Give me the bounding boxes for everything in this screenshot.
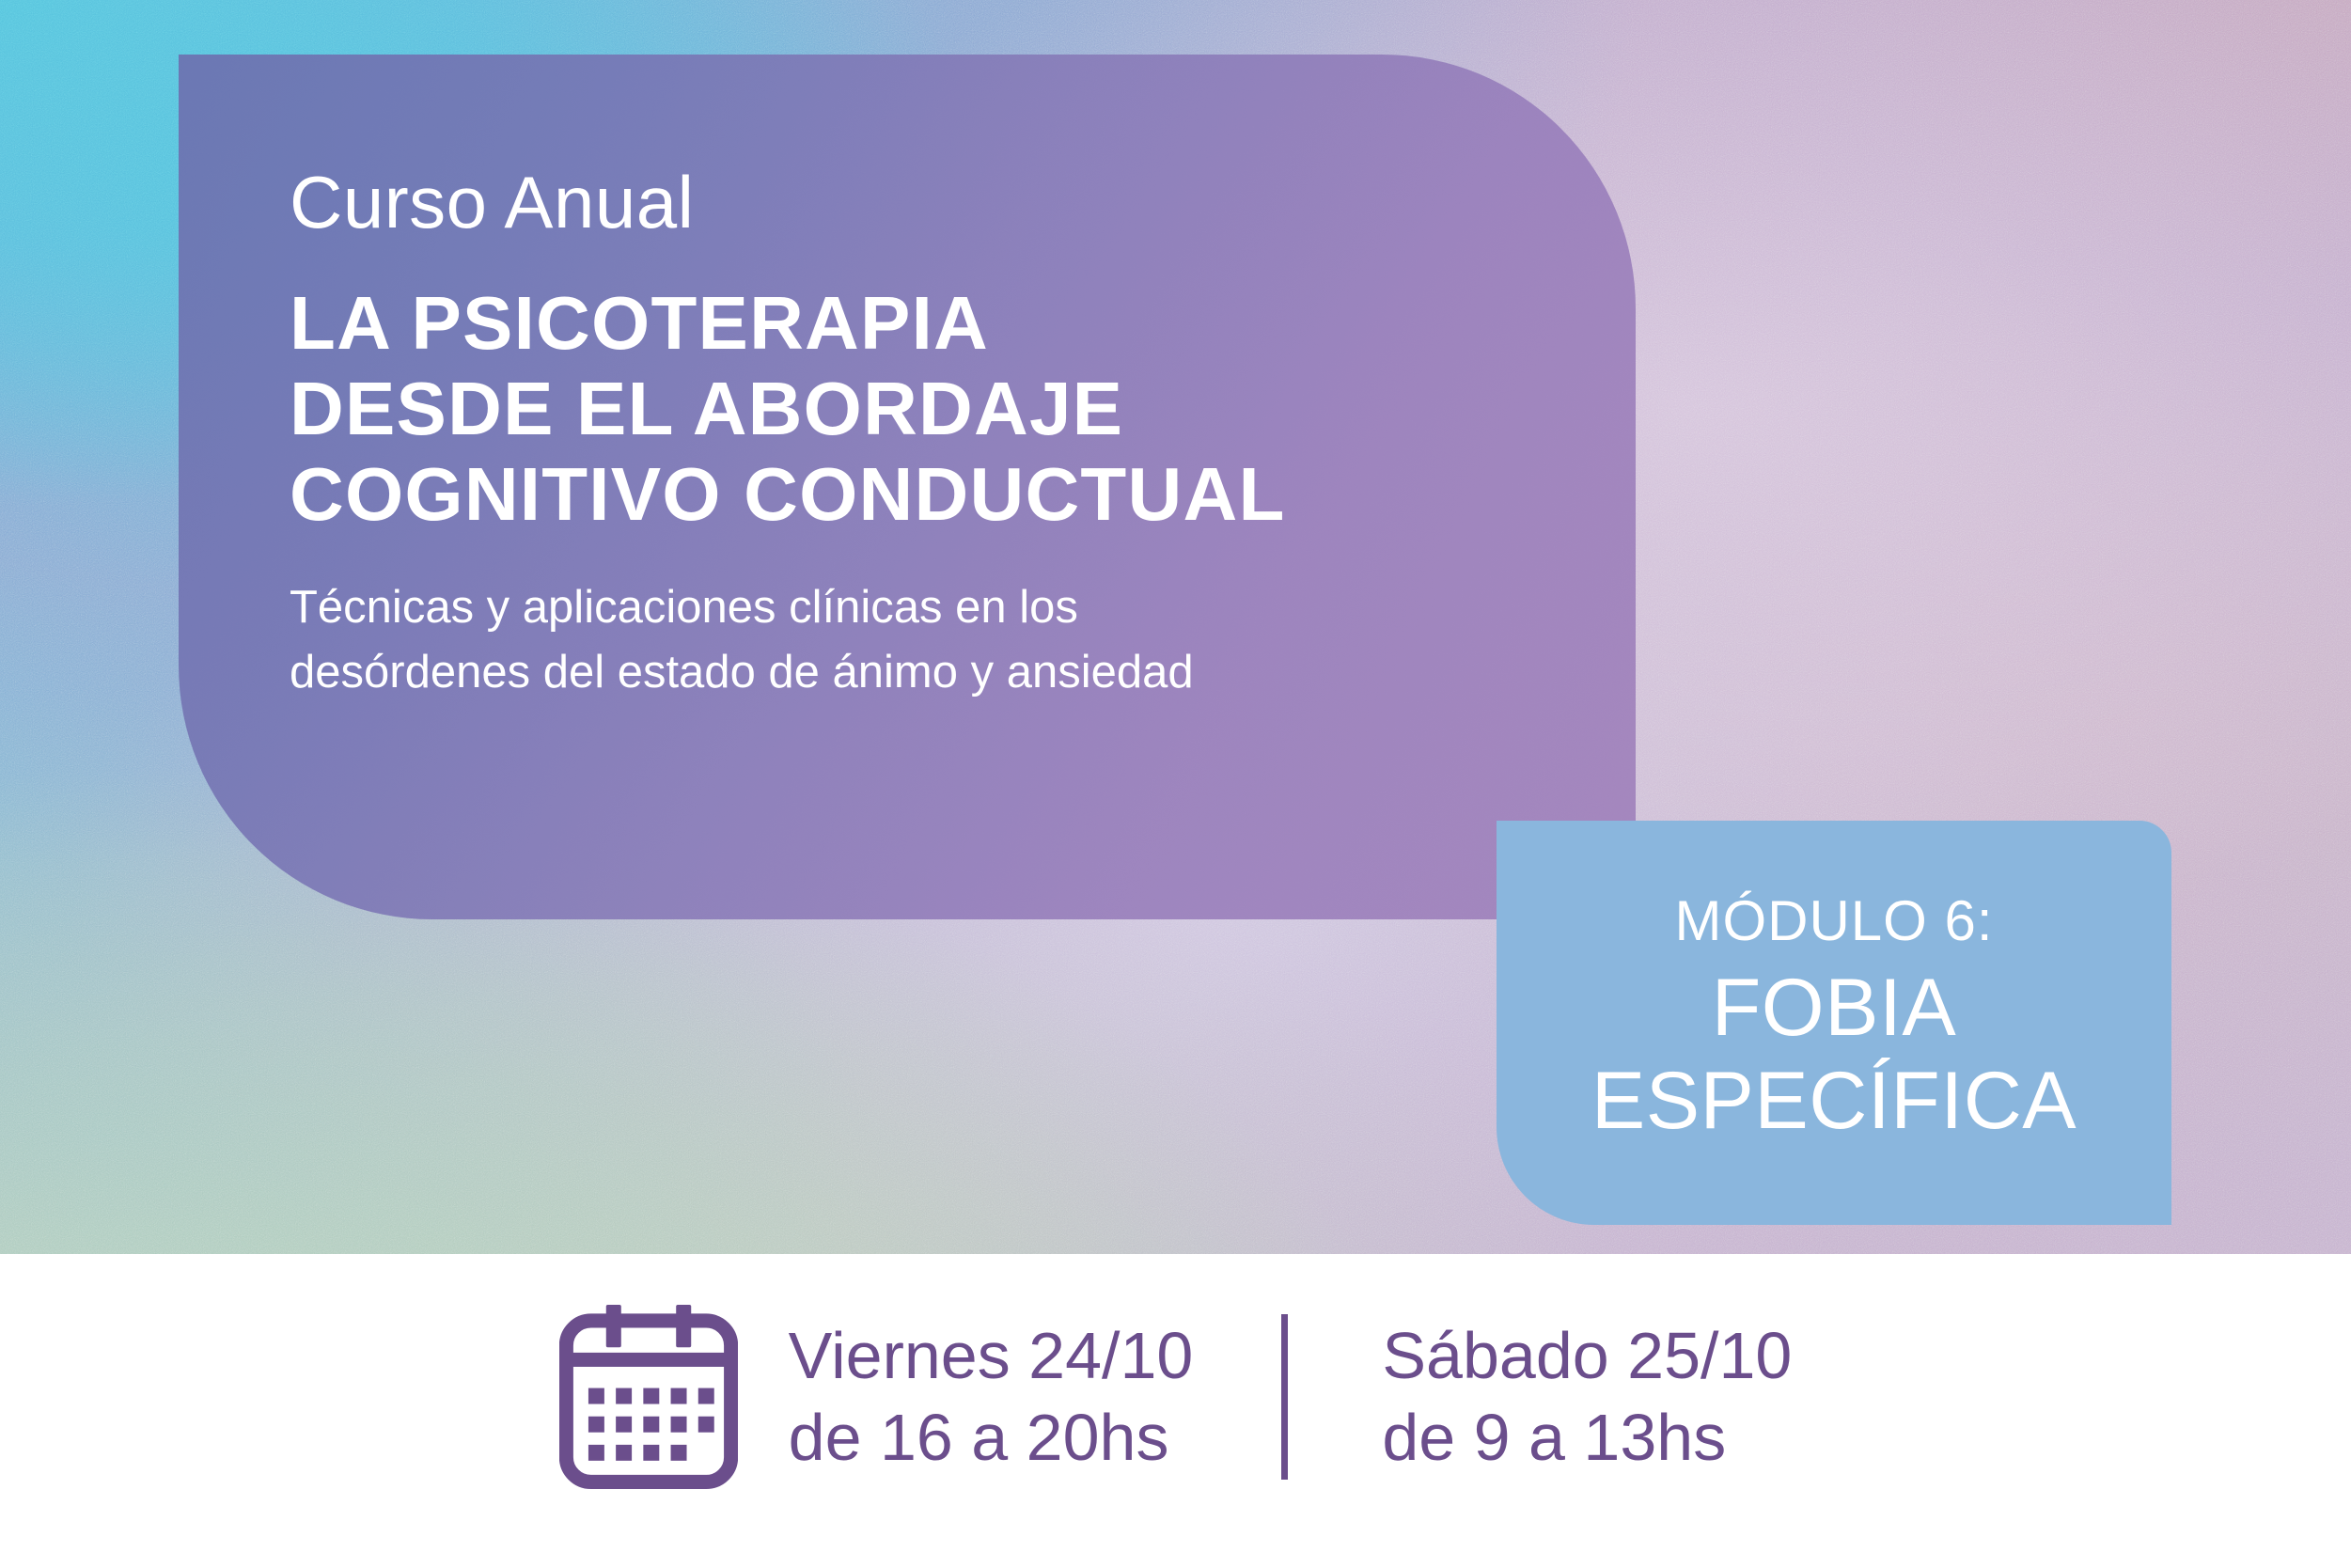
subtitle-line-2: desórdenes del estado de ánimo y ansieda… [290,640,1579,706]
module-title-line-2: ESPECÍFICA [1591,1055,2077,1147]
headline-line-1: LA PSICOTERAPIA [290,280,1579,366]
session-saturday-date: Sábado 25/10 [1382,1315,1792,1397]
schedule-content: Viernes 24/10 de 16 a 20hs Sábado 25/10 … [559,1305,1793,1489]
headline-line-3: COGNITIVO CONDUCTUAL [290,451,1579,537]
course-subtitle: Técnicas y aplicaciones clínicas en los … [290,575,1579,706]
page-title: LA PSICOTERAPIA DESDE EL ABORDAJE COGNIT… [290,280,1579,538]
hero-card-content: Curso Anual LA PSICOTERAPIA DESDE EL ABO… [290,165,1579,706]
session-saturday: Sábado 25/10 de 9 a 13hs [1382,1315,1792,1479]
calendar-icon [559,1305,738,1489]
session-saturday-time: de 9 a 13hs [1382,1397,1792,1479]
schedule-bar: Viernes 24/10 de 16 a 20hs Sábado 25/10 … [0,1254,2351,1568]
module-topic-title: FOBIA ESPECÍFICA [1591,962,2077,1146]
schedule-divider [1281,1314,1288,1480]
headline-line-2: DESDE EL ABORDAJE [290,366,1579,451]
module-badge: MÓDULO 6: FOBIA ESPECÍFICA [1497,821,2171,1225]
hero-card: Curso Anual LA PSICOTERAPIA DESDE EL ABO… [179,55,1636,919]
module-number-label: MÓDULO 6: [1674,891,1993,950]
session-friday-date: Viernes 24/10 [789,1315,1194,1397]
module-title-line-1: FOBIA [1591,962,2077,1054]
session-friday-time: de 16 a 20hs [789,1397,1194,1479]
poster-canvas: Curso Anual LA PSICOTERAPIA DESDE EL ABO… [0,0,2351,1568]
course-eyebrow: Curso Anual [290,165,1579,239]
session-friday: Viernes 24/10 de 16 a 20hs [789,1315,1194,1479]
subtitle-line-1: Técnicas y aplicaciones clínicas en los [290,575,1579,641]
